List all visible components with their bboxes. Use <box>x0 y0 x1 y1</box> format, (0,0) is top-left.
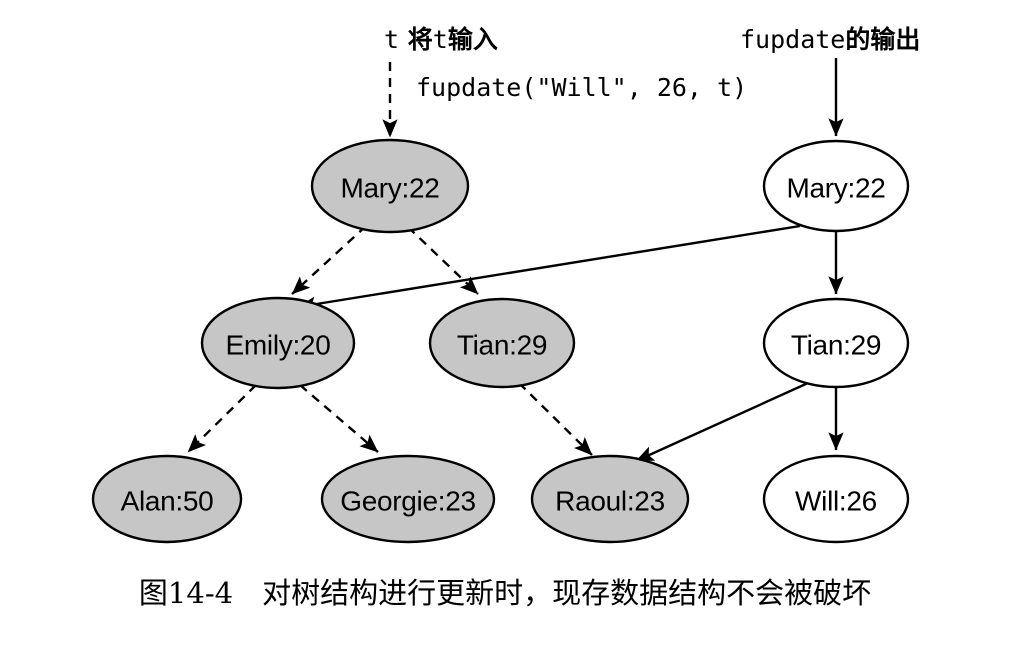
edge-old-emily-to-old-alan <box>188 385 256 452</box>
output-annotation-han: 的输出 <box>845 25 920 54</box>
output-annotation-fn: fupdate <box>740 25 845 54</box>
node-new-tian[interactable]: Tian:29 <box>764 299 908 387</box>
node-old-emily[interactable]: Emily:20 <box>202 298 354 388</box>
figure-caption: 图14-4 对树结构进行更新时，现存数据结构不会被破坏 <box>0 570 1010 612</box>
output-annotation: fupdate的输出 <box>740 26 920 55</box>
node-old-raoul[interactable]: Raoul:23 <box>532 456 688 542</box>
node-new-mary-label: Mary:22 <box>786 173 885 204</box>
input-annotation-call: fupdate("Will", 26, t) <box>416 74 747 103</box>
node-old-tian-label: Tian:29 <box>457 330 547 361</box>
node-old-raoul-label: Raoul:23 <box>555 486 665 517</box>
original-tree-nodes: Mary:22 Emily:20 Tian:29 Alan:50 Georgie… <box>93 140 688 542</box>
node-old-alan[interactable]: Alan:50 <box>93 456 241 542</box>
node-new-will[interactable]: Will:26 <box>764 456 908 542</box>
updated-tree-nodes: Mary:22 Tian:29 Will:26 <box>764 141 908 542</box>
node-new-tian-label: Tian:29 <box>791 330 881 361</box>
edge-old-mary-to-old-emily <box>292 226 366 294</box>
edge-new-mary-to-old-emily <box>298 226 800 307</box>
node-old-emily-label: Emily:20 <box>226 330 331 361</box>
node-old-georgie-label: Georgie:23 <box>340 486 476 517</box>
figure-root: Mary:22 Emily:20 Tian:29 Alan:50 Georgie… <box>0 0 1010 646</box>
node-old-georgie[interactable]: Georgie:23 <box>322 456 494 542</box>
node-new-mary[interactable]: Mary:22 <box>764 141 908 231</box>
node-old-mary[interactable]: Mary:22 <box>312 140 468 232</box>
edge-old-tian-to-old-raoul <box>519 383 592 455</box>
node-old-tian[interactable]: Tian:29 <box>430 299 574 387</box>
edge-new-tian-to-old-raoul <box>636 383 808 461</box>
input-annotation-var-2: t <box>433 25 448 54</box>
node-old-mary-label: Mary:22 <box>340 173 439 204</box>
node-old-alan-label: Alan:50 <box>121 486 214 517</box>
node-new-will-label: Will:26 <box>795 486 877 517</box>
input-annotation-han-2: 输入 <box>448 25 498 54</box>
input-annotation-var: t <box>384 25 399 54</box>
input-annotation-line-1: t 将t输入 <box>384 26 498 55</box>
input-annotation-han-1: 将 <box>399 25 433 54</box>
edge-old-emily-to-old-georgie <box>300 385 378 452</box>
